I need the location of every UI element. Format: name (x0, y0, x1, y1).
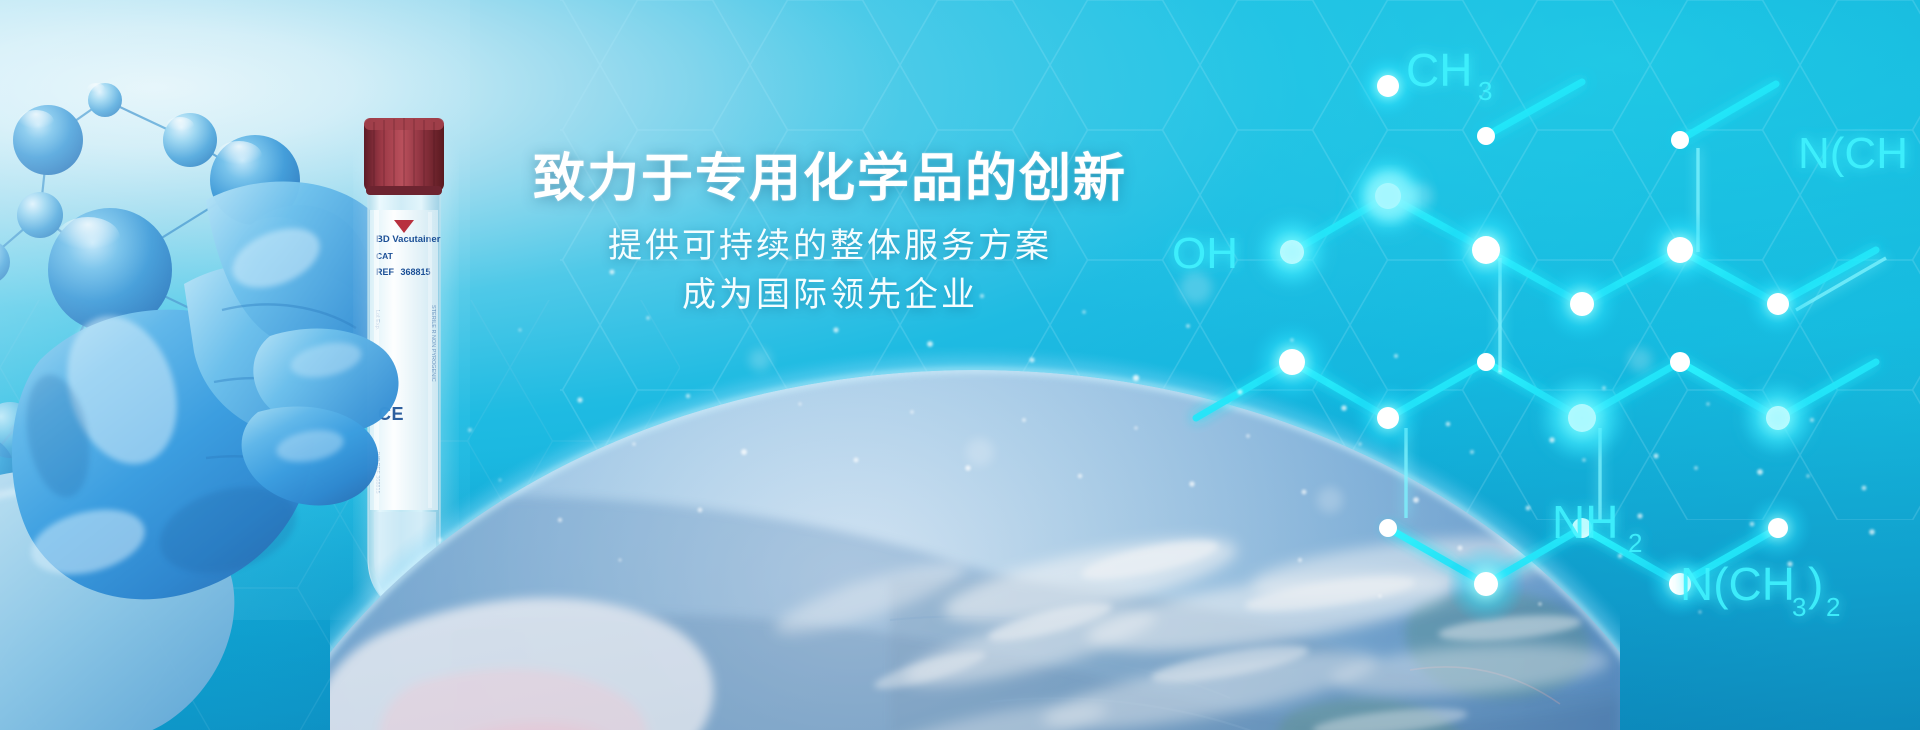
svg-text:N(CH: N(CH (1680, 558, 1795, 610)
svg-text:NH: NH (1552, 496, 1618, 548)
svg-text:N(CH: N(CH (1798, 129, 1908, 178)
svg-text:2: 2 (1628, 528, 1642, 558)
svg-text:3: 3 (1478, 76, 1492, 106)
page-title: 致力于专用化学品的创新 (400, 150, 1260, 208)
svg-text:): ) (1808, 558, 1823, 610)
svg-text:CH: CH (1406, 44, 1472, 96)
banner-copy-block: 致力于专用化学品的创新 提供可持续的整体服务方案 成为国际领先企业 (400, 150, 1260, 319)
chem-label-dimethylamino-top: N(CH (1798, 129, 1908, 178)
chem-label-dimethylamino: N(CH 3 ) 2 (1680, 558, 1840, 622)
svg-text:3: 3 (1792, 592, 1806, 622)
subtitle-line-1: 提供可持续的整体服务方案 (400, 222, 1260, 270)
chemical-structure-decoration: CH 3 OH N(CH NH 2 N(CH 3 ) 2 (1120, 0, 1920, 730)
subtitle-line-2: 成为国际领先企业 (400, 271, 1260, 319)
hero-banner: BD Vacutainer CAT REF 368815 STERILE R N… (0, 0, 1920, 730)
chem-label-amino: NH 2 (1552, 496, 1642, 558)
svg-text:2: 2 (1826, 592, 1840, 622)
